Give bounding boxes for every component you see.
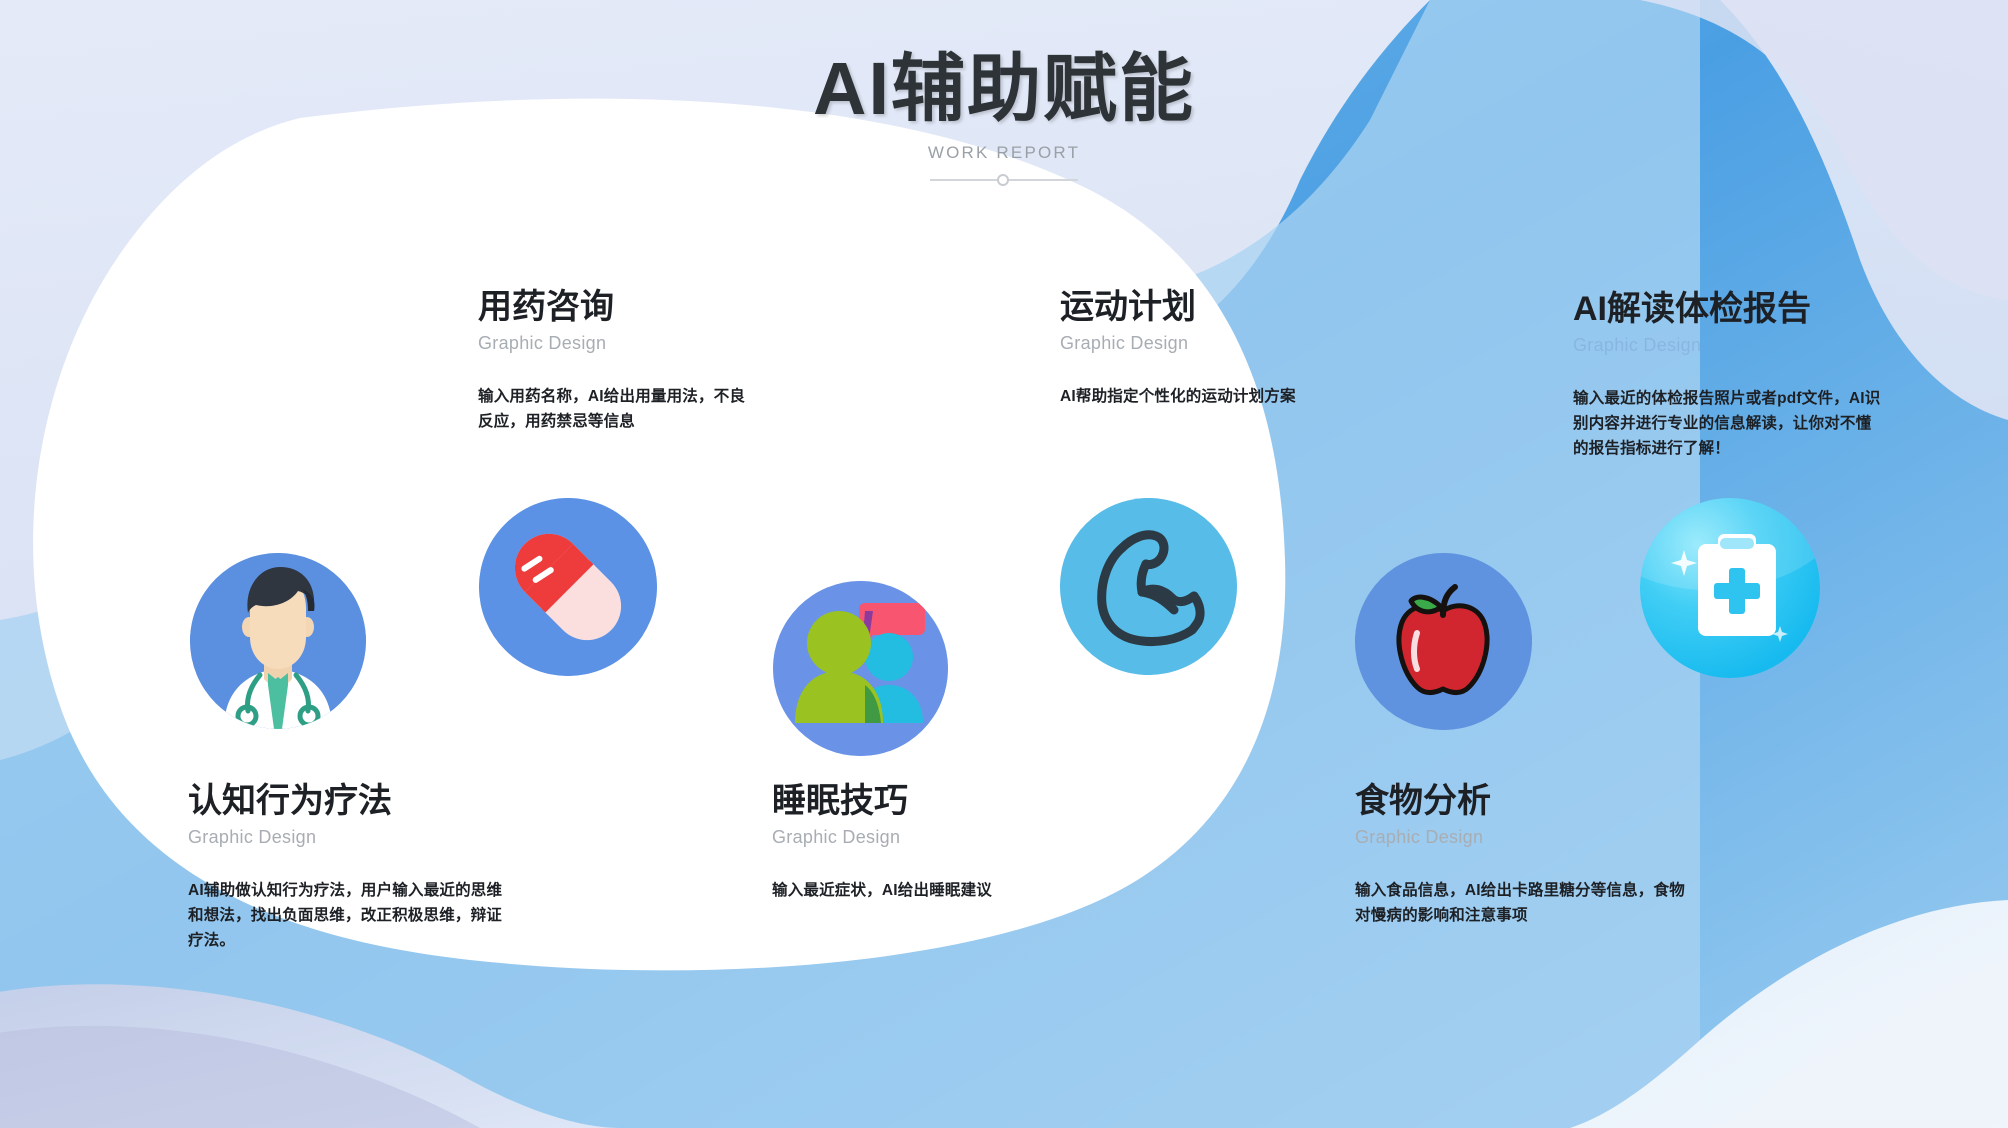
card-body: 输入最近的体检报告照片或者pdf文件，AI识别内容并进行专业的信息解读，让你对不… [1573,386,1883,461]
page-subtitle: WORK REPORT [0,143,2008,163]
card-body: AI辅助做认知行为疗法，用户输入最近的思维和想法，找出负面思维，改正积极思维，辩… [188,878,506,953]
card-caption: Graphic Design [772,827,1072,848]
card-text-sleep: 睡眠技巧 Graphic Design 输入最近症状，AI给出睡眠建议 [772,782,1072,903]
card-heading: 睡眠技巧 [772,782,1072,821]
pill-icon [479,498,657,676]
card-caption: Graphic Design [1355,827,1685,848]
slide-canvas: AI辅助赋能 WORK REPORT 用药咨询 Graphic Design 输… [0,0,2008,1128]
card-heading: 食物分析 [1355,782,1685,821]
medical-clipboard-icon [1640,498,1820,678]
card-body: 输入用药名称，AI给出用量用法，不良反应，用药禁忌等信息 [478,384,746,434]
card-caption: Graphic Design [1060,333,1340,354]
card-caption: Graphic Design [1573,335,1883,356]
card-heading: 认知行为疗法 [188,782,506,821]
card-heading: AI解读体检报告 [1573,290,1883,329]
card-text-ai-report: AI解读体检报告 Graphic Design 输入最近的体检报告照片或者pdf… [1573,290,1883,461]
card-text-medication: 用药咨询 Graphic Design 输入用药名称，AI给出用量用法，不良反应… [478,288,746,434]
title-divider [930,173,1078,187]
two-people-speech-icon [773,581,948,756]
card-body: 输入最近症状，AI给出睡眠建议 [772,878,1072,903]
card-text-exercise-plan: 运动计划 Graphic Design AI帮助指定个性化的运动计划方案 [1060,288,1340,409]
card-text-food: 食物分析 Graphic Design 输入食品信息，AI给出卡路里糖分等信息，… [1355,782,1685,928]
card-heading: 用药咨询 [478,288,746,327]
card-text-cbt: 认知行为疗法 Graphic Design AI辅助做认知行为疗法，用户输入最近… [188,782,506,953]
apple-icon [1355,553,1532,730]
card-heading: 运动计划 [1060,288,1340,327]
divider-dot-icon [997,174,1009,186]
card-caption: Graphic Design [188,827,506,848]
page-title: AI辅助赋能 [0,48,2008,129]
card-body: 输入食品信息，AI给出卡路里糖分等信息，食物对慢病的影响和注意事项 [1355,878,1685,928]
card-caption: Graphic Design [478,333,746,354]
slide-header: AI辅助赋能 WORK REPORT [0,48,2008,187]
flexed-bicep-icon [1060,498,1237,675]
doctor-avatar-icon [190,553,366,729]
card-body: AI帮助指定个性化的运动计划方案 [1060,384,1340,409]
